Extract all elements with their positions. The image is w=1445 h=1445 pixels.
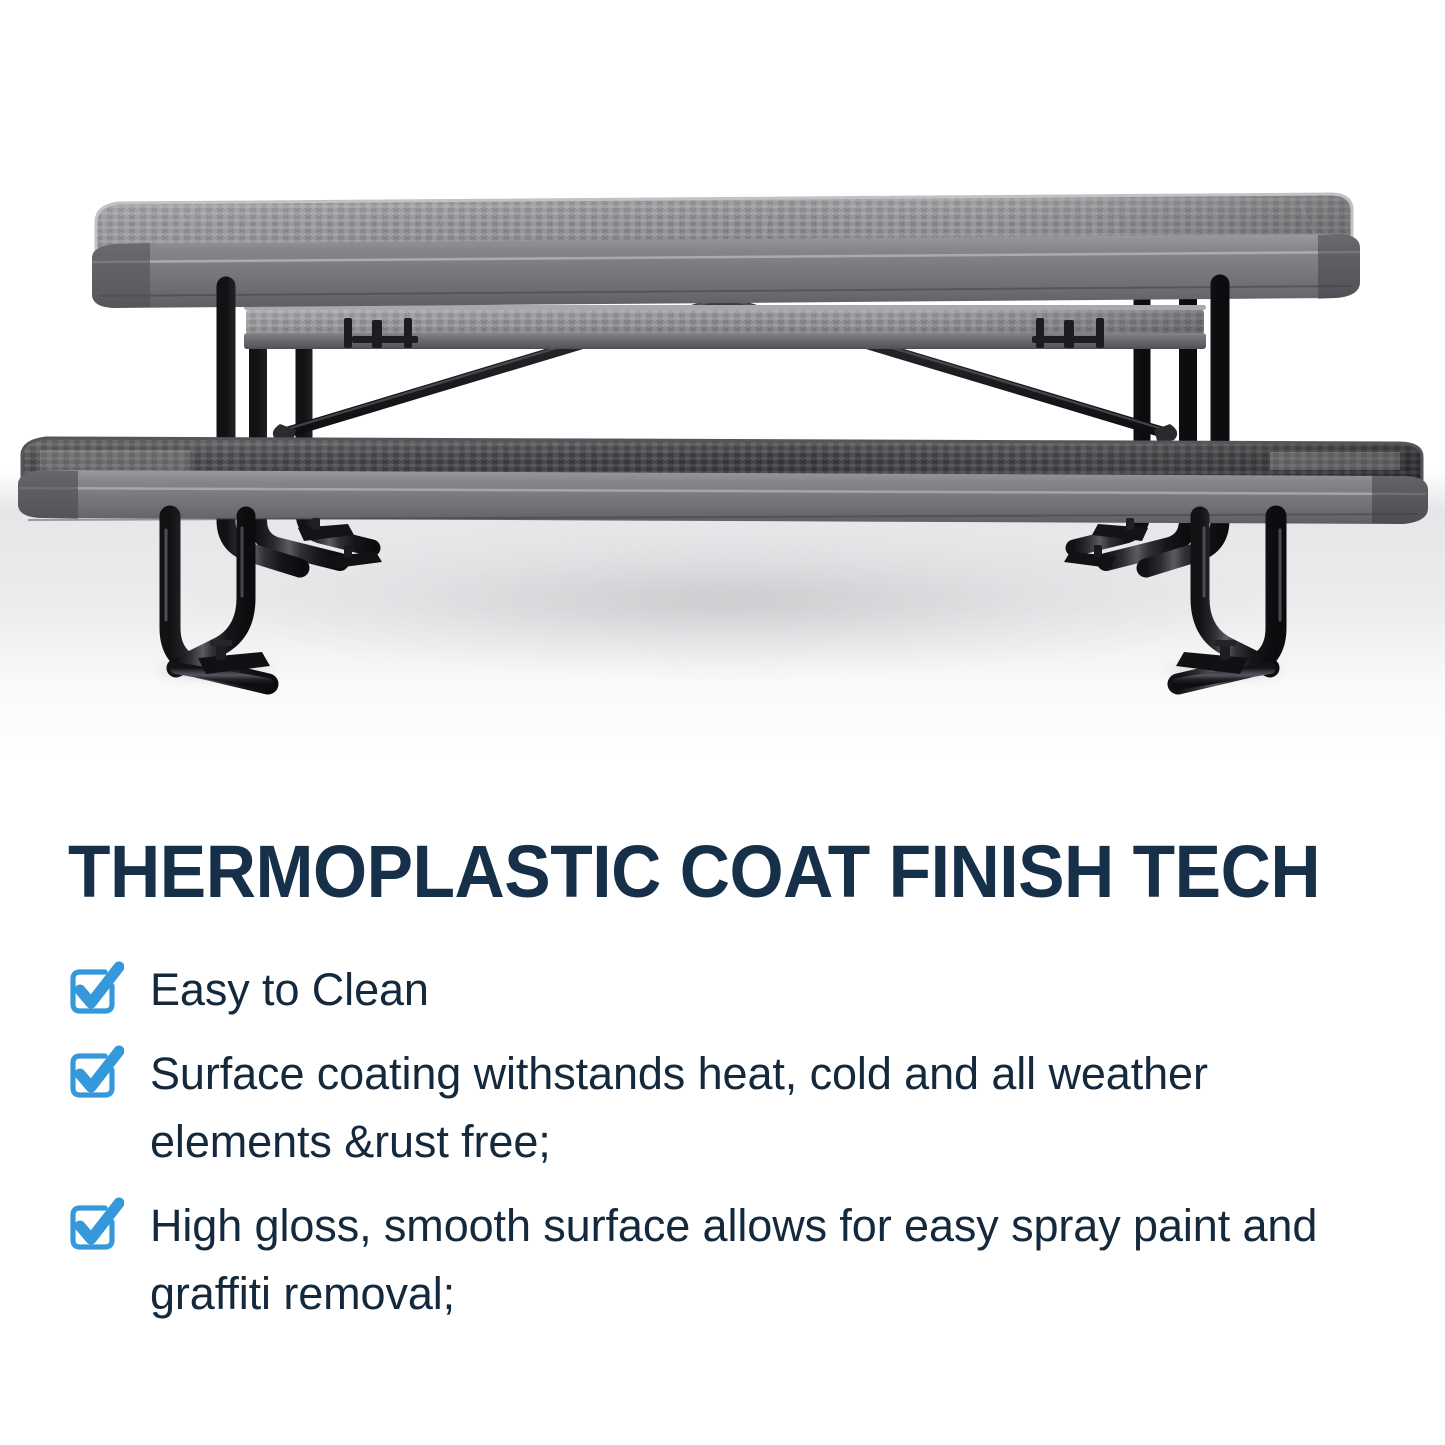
list-item: Easy to Clean — [66, 956, 1393, 1024]
feature-list: Easy to Clean Surface coating withstands… — [66, 956, 1393, 1328]
picnic-table-illustration — [0, 0, 1445, 800]
product-image — [0, 0, 1445, 800]
checkbox-checked-icon — [66, 1196, 124, 1254]
list-item-label: High gloss, smooth surface allows for ea… — [150, 1192, 1335, 1328]
list-item-label: Easy to Clean — [150, 956, 429, 1024]
near-bench-seat — [18, 435, 1428, 524]
list-item: Surface coating withstands heat, cold an… — [66, 1040, 1393, 1176]
marketing-copy: THERMOPLASTIC COAT FINISH TECH Easy to C… — [0, 800, 1445, 1445]
page-title: THERMOPLASTIC COAT FINISH TECH — [68, 828, 1314, 916]
list-item: High gloss, smooth surface allows for ea… — [66, 1192, 1393, 1328]
checkbox-checked-icon — [66, 1044, 124, 1102]
list-item-label: Surface coating withstands heat, cold an… — [150, 1040, 1335, 1176]
checkbox-checked-icon — [66, 960, 124, 1018]
